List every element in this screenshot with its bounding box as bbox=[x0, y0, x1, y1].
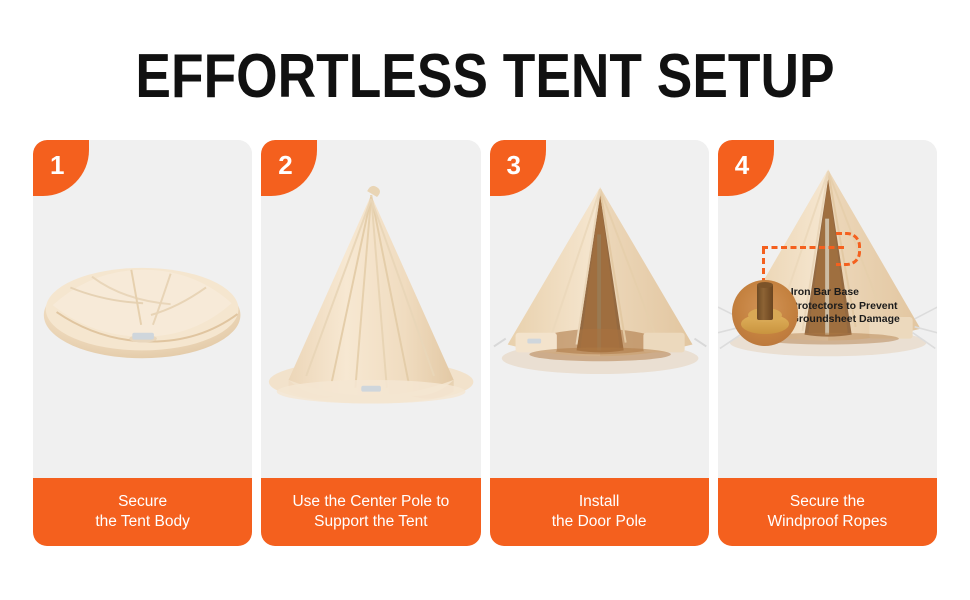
step-caption-3-line2: the Door Pole bbox=[552, 512, 647, 532]
step-caption-1: Secure the Tent Body bbox=[33, 478, 252, 546]
step-caption-3-line1: Install bbox=[579, 492, 620, 512]
annotation-line1: Iron Bar Base bbox=[791, 286, 937, 300]
step-card-1[interactable]: 1 bbox=[33, 140, 252, 546]
page-title: EFFORTLESS TENT SETUP bbox=[68, 46, 902, 108]
step-image-3 bbox=[490, 140, 709, 478]
annotation-label: Iron Bar Base Protectors to Prevent Grou… bbox=[791, 286, 937, 327]
step-card-3[interactable]: 3 bbox=[490, 140, 709, 546]
iron-bar bbox=[757, 284, 773, 320]
step-image-1 bbox=[33, 140, 252, 478]
step-caption-4-line1: Secure the bbox=[790, 492, 865, 512]
step-caption-1-line1: Secure bbox=[118, 492, 167, 512]
step-caption-3: Install the Door Pole bbox=[490, 478, 709, 546]
callout-leader-vertical bbox=[762, 248, 765, 284]
step-caption-2: Use the Center Pole to Support the Tent bbox=[261, 478, 480, 546]
annotation-line2: Protectors to Prevent bbox=[791, 300, 937, 314]
step-image-2 bbox=[261, 140, 480, 478]
step-caption-4-line2: Windproof Ropes bbox=[767, 512, 887, 532]
step-image-4: Iron Bar Base Protectors to Prevent Grou… bbox=[718, 140, 937, 478]
callout-leader-horizontal bbox=[762, 246, 844, 249]
step-caption-2-line2: Support the Tent bbox=[314, 512, 427, 532]
infographic-page: EFFORTLESS TENT SETUP 1 bbox=[0, 0, 970, 600]
step-caption-4: Secure the Windproof Ropes bbox=[718, 478, 937, 546]
steps-row: 1 bbox=[33, 140, 937, 546]
step-caption-2-line1: Use the Center Pole to bbox=[292, 492, 449, 512]
annotation-line3: Groundsheet Damage bbox=[791, 313, 937, 327]
step-card-4[interactable]: 4 bbox=[718, 140, 937, 546]
step-card-2[interactable]: 2 bbox=[261, 140, 480, 546]
highlight-dashed-box bbox=[836, 232, 861, 266]
tent-cone-illustration bbox=[261, 140, 480, 472]
iron-bar-top bbox=[757, 282, 773, 288]
step-caption-1-line2: the Tent Body bbox=[95, 512, 190, 532]
magnified-detail-circle bbox=[732, 280, 798, 346]
